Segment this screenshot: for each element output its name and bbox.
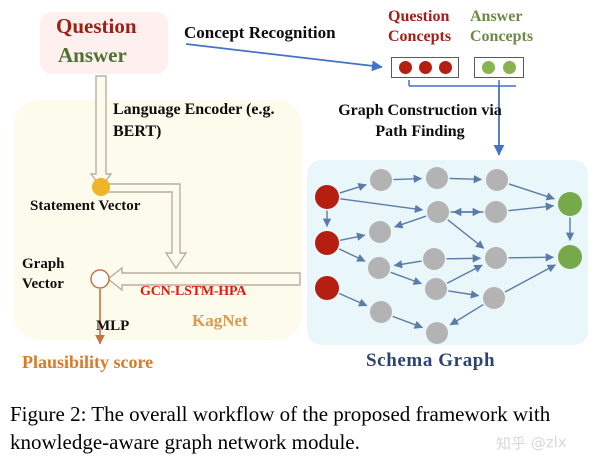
- graph-vector-label: Graph Vector: [22, 254, 84, 295]
- schema-graph-panel: [307, 160, 588, 345]
- answer-concept-dot: [482, 61, 495, 74]
- plausibility-score-label: Plausibility score: [22, 352, 153, 373]
- mlp-label: MLP: [96, 318, 129, 335]
- figure-canvas: Question Answer Concept Recognition Ques…: [0, 0, 600, 474]
- question-concept-dot: [419, 61, 432, 74]
- answer-concept-dot: [503, 61, 516, 74]
- question-label: Question: [56, 14, 137, 39]
- kagnet-title: KagNet: [192, 311, 248, 331]
- answer-concepts-label: Answer Concepts: [470, 7, 550, 46]
- language-encoder-label: Language Encoder (e.g. BERT): [113, 99, 293, 143]
- concept-recognition-arrow: [186, 44, 382, 67]
- concept-recognition-label: Concept Recognition: [184, 23, 336, 43]
- graph-construction-label: Graph Construction via Path Finding: [325, 100, 515, 142]
- question-concept-dot: [439, 61, 452, 74]
- question-concepts-box: [391, 57, 459, 78]
- statement-vector-label: Statement Vector: [30, 198, 140, 215]
- schema-graph-title: Schema Graph: [366, 350, 495, 372]
- question-concepts-label: Question Concepts: [388, 7, 468, 46]
- question-concept-dot: [399, 61, 412, 74]
- answer-concepts-box: [474, 57, 524, 78]
- watermark: 知乎 @zlx: [496, 431, 567, 454]
- gcn-lstm-hpa-label: GCN-LSTM-HPA: [140, 284, 246, 300]
- answer-label: Answer: [58, 43, 127, 68]
